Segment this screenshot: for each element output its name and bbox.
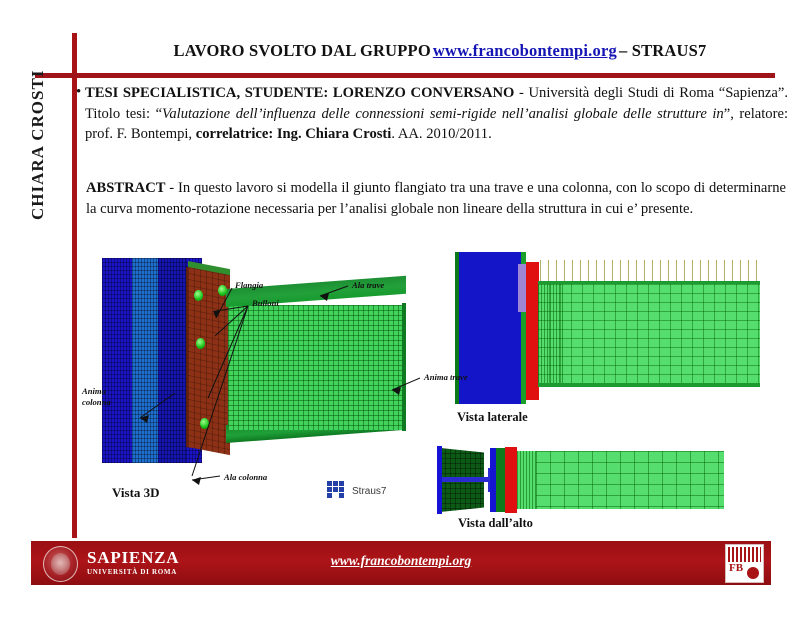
thesis-year: . AA. 2010/2011. bbox=[391, 126, 491, 142]
footer-link[interactable]: www.francobontempi.org bbox=[31, 553, 771, 569]
bullet-marker: • bbox=[76, 82, 81, 103]
label-anima-colonna-line2: colonna bbox=[82, 397, 111, 407]
label-anima-colonna-line1: Anima bbox=[82, 386, 106, 396]
label-bulloni: Bulloni bbox=[252, 298, 279, 308]
abstract-label: ABSTRACT bbox=[86, 180, 165, 196]
thesis-title-italic: Valutazione dell’influenza delle conness… bbox=[162, 106, 724, 122]
thesis-paragraph: • TESI SPECIALISTICA, STUDENTE: LORENZO … bbox=[76, 83, 788, 145]
fb-logo-pattern bbox=[728, 547, 761, 562]
label-flangia: Flangia bbox=[235, 280, 263, 290]
title-suffix: – STRAUS7 bbox=[619, 41, 707, 61]
label-ala-colonna: Ala colonna bbox=[224, 472, 267, 482]
header-link[interactable]: www.francobontempi.org bbox=[433, 41, 617, 61]
thesis-coadvisor: correlatrice: Ing. Chiara Crosti bbox=[196, 126, 392, 142]
abstract-text: - In questo lavoro si modella il giunto … bbox=[86, 180, 786, 217]
presenter-side-label: CHIARA CROSTI bbox=[22, 20, 54, 220]
annotation-leaders bbox=[80, 248, 792, 538]
page-title: LAVORO SVOLTO DAL GRUPPO www.francobonte… bbox=[110, 33, 770, 69]
label-anima-trave: Anima trave bbox=[424, 372, 468, 382]
label-ala-trave: Ala trave bbox=[352, 280, 384, 290]
fb-logo-icon: FB bbox=[725, 544, 764, 583]
horizontal-accent-rule bbox=[35, 73, 775, 78]
title-prefix: LAVORO SVOLTO DAL GRUPPO bbox=[174, 41, 431, 61]
thesis-student-line: TESI SPECIALISTICA, STUDENTE: LORENZO CO… bbox=[85, 85, 514, 101]
footer-bar: SAPIENZA UNIVERSITÀ DI ROMA www.francobo… bbox=[31, 541, 771, 585]
fb-logo-text: FB bbox=[729, 564, 743, 573]
sapienza-subtitle: UNIVERSITÀ DI ROMA bbox=[87, 568, 179, 576]
abstract-paragraph: ABSTRACT - In questo lavoro si modella i… bbox=[86, 178, 786, 219]
figure-zone: Straus7 Vista 3D Vista laterale bbox=[80, 248, 792, 538]
fb-logo-dot bbox=[747, 567, 759, 579]
